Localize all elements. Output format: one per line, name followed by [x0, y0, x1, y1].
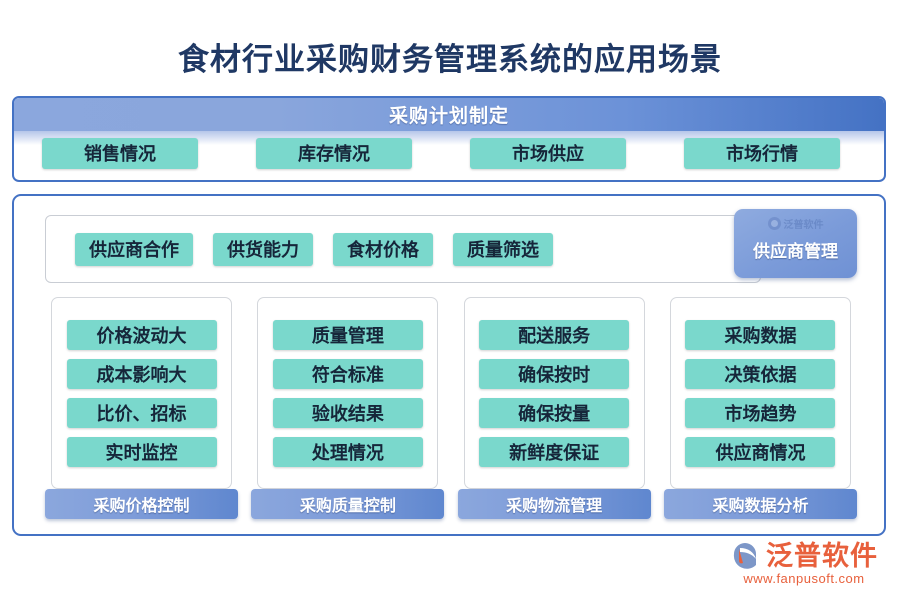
column-item[interactable]: 质量管理 [273, 320, 423, 350]
watermark-logo-icon: 泛普软件 [768, 216, 824, 231]
purchase-plan-header-label: 采购计划制定 [389, 101, 509, 128]
process-column-data-analysis: 采购数据 决策依据 市场趋势 供应商情况 采购数据分析 [664, 297, 857, 519]
column-footer-label: 采购价格控制 [93, 492, 189, 516]
column-card: 采购数据 决策依据 市场趋势 供应商情况 [670, 297, 851, 489]
watermark-mark-icon [768, 217, 781, 230]
process-column-quality-control: 质量管理 符合标准 验收结果 处理情况 采购质量控制 [251, 297, 444, 519]
supplier-item[interactable]: 供应商合作 [75, 233, 193, 266]
column-item[interactable]: 符合标准 [273, 359, 423, 389]
column-item[interactable]: 配送服务 [479, 320, 629, 350]
main-panel: 供应商合作 供货能力 食材价格 质量筛选 泛普软件 供应商管理 价格波动大 成本… [12, 194, 886, 536]
process-columns: 价格波动大 成本影响大 比价、招标 实时监控 采购价格控制 质量管理 符合标准 … [45, 297, 857, 519]
column-footer[interactable]: 采购数据分析 [664, 489, 857, 519]
process-column-logistics: 配送服务 确保按时 确保按量 新鲜度保证 采购物流管理 [458, 297, 651, 519]
column-item[interactable]: 采购数据 [685, 320, 835, 350]
supplier-management-row: 供应商合作 供货能力 食材价格 质量筛选 泛普软件 供应商管理 [45, 215, 857, 283]
column-item[interactable]: 决策依据 [685, 359, 835, 389]
column-footer-label: 采购数据分析 [712, 492, 808, 516]
purchase-plan-item[interactable]: 市场供应 [470, 138, 626, 169]
purchase-plan-item[interactable]: 库存情况 [256, 138, 412, 169]
column-footer[interactable]: 采购物流管理 [458, 489, 651, 519]
supplier-management-tag-label: 供应商管理 [753, 237, 838, 262]
column-item[interactable]: 验收结果 [273, 398, 423, 428]
brand-url: www.fanpusoft.com [743, 571, 864, 586]
column-footer-label: 采购质量控制 [300, 492, 396, 516]
column-item[interactable]: 供应商情况 [685, 437, 835, 467]
purchase-plan-panel: 采购计划制定 销售情况 库存情况 市场供应 市场行情 [12, 96, 886, 182]
column-item[interactable]: 市场趋势 [685, 398, 835, 428]
column-card: 质量管理 符合标准 验收结果 处理情况 [257, 297, 438, 489]
supplier-item[interactable]: 质量筛选 [453, 233, 553, 266]
brand-top: 泛普软件 [730, 534, 878, 573]
supplier-item[interactable]: 供货能力 [213, 233, 313, 266]
column-footer[interactable]: 采购质量控制 [251, 489, 444, 519]
column-item[interactable]: 处理情况 [273, 437, 423, 467]
purchase-plan-item[interactable]: 市场行情 [684, 138, 840, 169]
column-item[interactable]: 确保按量 [479, 398, 629, 428]
brand-logo: 泛普软件 www.fanpusoft.com [730, 534, 878, 586]
page-title: 食材行业采购财务管理系统的应用场景 [0, 34, 900, 79]
brand-name: 泛普软件 [766, 534, 878, 573]
column-item[interactable]: 成本影响大 [67, 359, 217, 389]
column-card: 价格波动大 成本影响大 比价、招标 实时监控 [51, 297, 232, 489]
column-item[interactable]: 确保按时 [479, 359, 629, 389]
purchase-plan-item-row: 销售情况 库存情况 市场供应 市场行情 [14, 137, 884, 169]
process-column-price-control: 价格波动大 成本影响大 比价、招标 实时监控 采购价格控制 [45, 297, 238, 519]
supplier-item[interactable]: 食材价格 [333, 233, 433, 266]
column-item[interactable]: 新鲜度保证 [479, 437, 629, 467]
column-footer-label: 采购物流管理 [506, 492, 602, 516]
column-item[interactable]: 比价、招标 [67, 398, 217, 428]
supplier-item-container: 供应商合作 供货能力 食材价格 质量筛选 [45, 215, 761, 283]
column-footer[interactable]: 采购价格控制 [45, 489, 238, 519]
purchase-plan-item[interactable]: 销售情况 [42, 138, 198, 169]
column-item[interactable]: 实时监控 [67, 437, 217, 467]
supplier-management-tag[interactable]: 泛普软件 供应商管理 [734, 209, 857, 278]
watermark-label: 泛普软件 [784, 216, 824, 231]
column-item[interactable]: 价格波动大 [67, 320, 217, 350]
column-card: 配送服务 确保按时 确保按量 新鲜度保证 [464, 297, 645, 489]
fanpu-logo-icon [730, 539, 760, 569]
purchase-plan-header: 采购计划制定 [14, 98, 884, 131]
